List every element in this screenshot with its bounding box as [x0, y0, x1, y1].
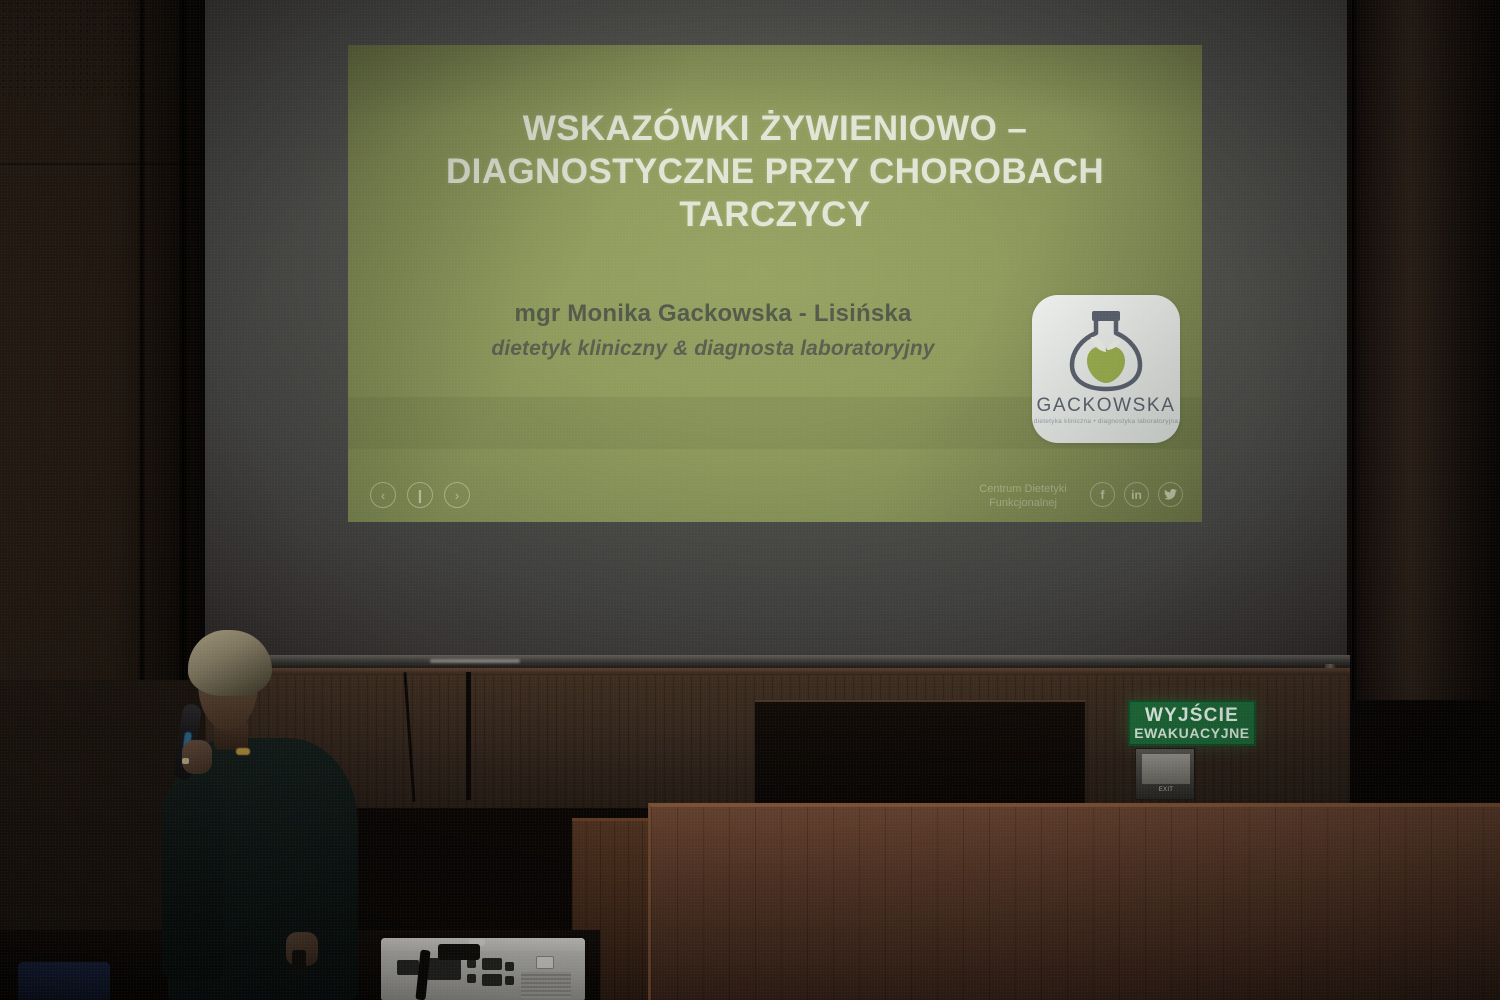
presenter-arm: [162, 780, 224, 980]
exit-sign-line-1: WYJŚCIE: [1145, 706, 1239, 725]
projector-port-bnc-1: [505, 962, 514, 971]
presentation-room-photo: WSKAZÓWKI ŻYWIENIOWO – DIAGNOSTYCZNE PRZ…: [0, 0, 1500, 1000]
hanging-cable-2: [466, 672, 471, 800]
slide-title-line-1: WSKAZÓWKI ŻYWIENIOWO –: [408, 107, 1142, 150]
exit-box-label: EXIT: [1136, 787, 1196, 793]
presentation-clicker: [292, 950, 306, 972]
panel-edge-shadow-1: [138, 0, 146, 680]
screen-bottom-bar: [205, 655, 1350, 669]
acoustic-perforation-texture: [0, 0, 150, 100]
slide-title: WSKAZÓWKI ŻYWIENIOWO – DIAGNOSTYCZNE PRZ…: [408, 107, 1142, 236]
projector-port-rca-1: [467, 959, 476, 968]
slide-title-line-2: DIAGNOSTYCZNE PRZY CHOROBACH: [408, 150, 1142, 193]
panel-seam: [0, 163, 205, 165]
screen-bottom-highlight: [430, 659, 520, 663]
brand-line-2: Funkcjonalnej: [968, 496, 1078, 510]
projector-port-vga-cable: [427, 958, 461, 980]
right-pillar-edge: [1352, 0, 1358, 700]
presenter-name: mgr Monika Gackowska - Lisińska: [408, 300, 1018, 328]
logo-tagline: dietetyka kliniczna • diagnostyka labora…: [1032, 418, 1180, 425]
wainscot-top-moulding: [205, 668, 1350, 675]
exit-light-housing: EXIT: [1135, 748, 1195, 800]
twitter-icon[interactable]: [1158, 482, 1183, 507]
projector-port-dsub-1: [482, 958, 502, 970]
presenter-necklace: [236, 748, 250, 755]
projector-port-power: [397, 960, 419, 975]
social-links[interactable]: f in: [1090, 482, 1183, 507]
projector-connector-plug: [438, 944, 480, 960]
presenter-hand-holding-mic: [182, 740, 212, 774]
exit-sign-line-2: EWAKUACYJNE: [1134, 725, 1250, 741]
wooden-podium: [648, 803, 1500, 1000]
panel-edge-shadow-2: [178, 0, 188, 680]
brand-line-1: Centrum Dietetyki: [968, 482, 1078, 496]
pause-slide-icon[interactable]: ❙: [407, 482, 433, 508]
projector-vent-grille: [521, 972, 571, 998]
prev-slide-icon[interactable]: ‹: [370, 482, 396, 508]
slide-brand-footer: Centrum Dietetyki Funkcjonalnej: [968, 482, 1078, 510]
projector-port-dsub-2: [482, 974, 502, 986]
jar-with-apple-icon: [1060, 309, 1152, 395]
presentation-slide: WSKAZÓWKI ŻYWIENIOWO – DIAGNOSTYCZNE PRZ…: [348, 45, 1202, 522]
projector-lan-port: [536, 956, 554, 969]
projector: [381, 938, 585, 1000]
slide-title-line-3: TARCZYCY: [408, 193, 1142, 236]
wall-niche: [755, 700, 1085, 808]
left-wood-panel: [0, 0, 208, 680]
slide-nav-controls[interactable]: ‹ ❙ ›: [370, 482, 470, 508]
projector-port-bnc-2: [505, 976, 514, 985]
facebook-icon[interactable]: f: [1090, 482, 1115, 507]
emergency-exit-sign: WYJŚCIE EWAKUACYJNE: [1128, 700, 1256, 746]
presenter-ring: [182, 758, 189, 764]
exit-light-lens: [1142, 754, 1190, 784]
presenter: [140, 620, 370, 1000]
presenter-hair: [188, 630, 272, 696]
projector-port-rca-2: [467, 974, 476, 983]
linkedin-icon[interactable]: in: [1124, 482, 1149, 507]
right-wood-pillar: [1345, 0, 1500, 700]
gackowska-logo: GACKOWSKA dietetyka kliniczna • diagnost…: [1032, 295, 1180, 443]
presenter-role: dietetyk kliniczny & diagnosta laborator…: [408, 337, 1018, 361]
blue-chair: [18, 962, 110, 1000]
next-slide-icon[interactable]: ›: [444, 482, 470, 508]
logo-wordmark: GACKOWSKA: [1032, 395, 1180, 417]
